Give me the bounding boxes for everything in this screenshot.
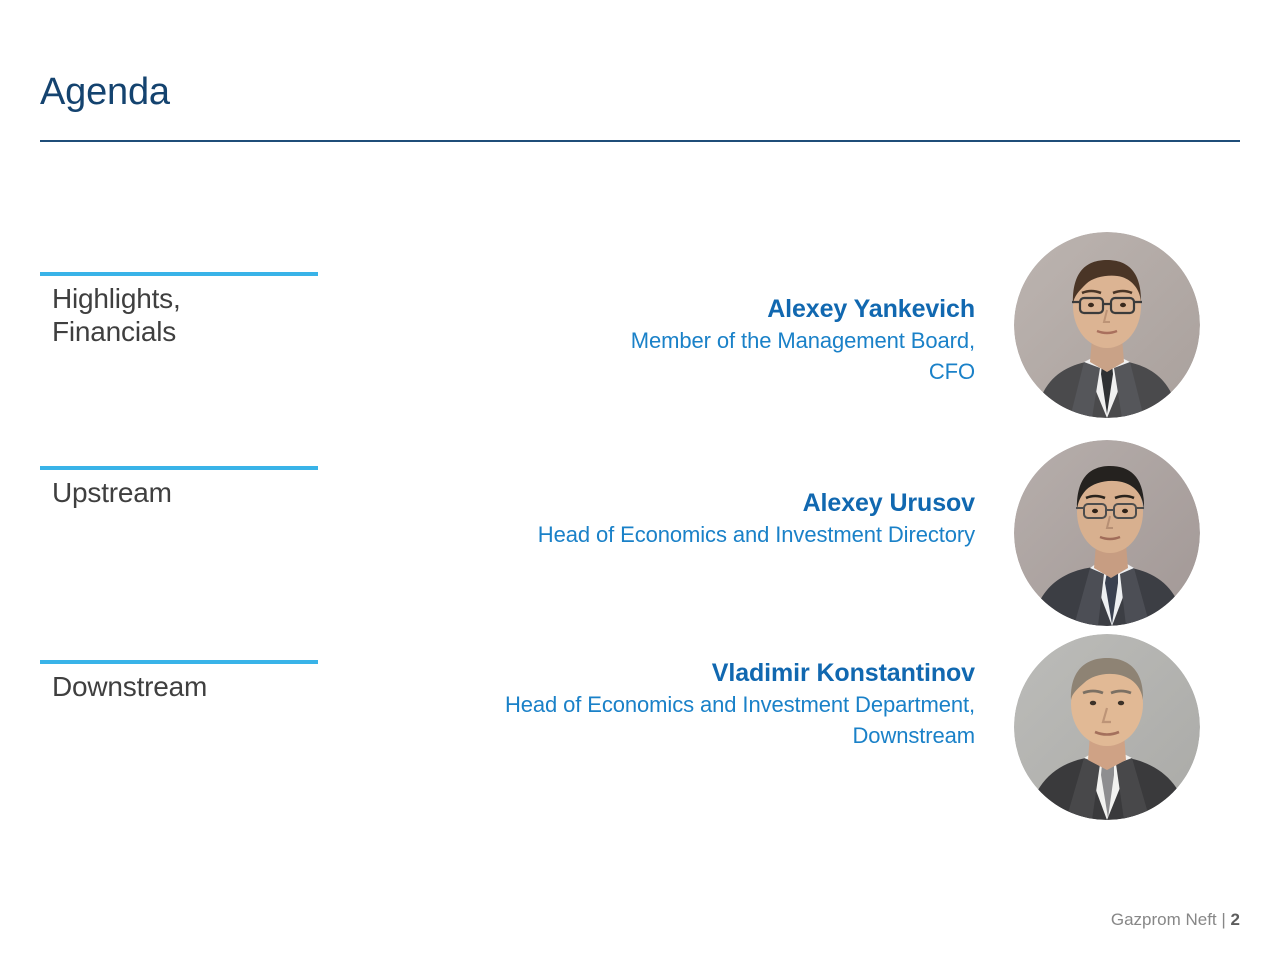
section-accent-line [40,272,318,276]
title-divider [40,140,1240,142]
person-block: Vladimir Konstantinov Head of Economics … [355,658,975,751]
footer-company: Gazprom Neft | [1111,910,1226,929]
person-block: Alexey Urusov Head of Economics and Inve… [355,488,975,550]
portrait-alexey-urusov-icon [1014,440,1200,626]
portrait-alexey-yankevich-icon [1014,232,1200,418]
sidebar-item-downstream[interactable]: Downstream [52,670,352,703]
page-title: Agenda [40,70,170,114]
avatar [1014,634,1200,820]
portrait-vladimir-konstantinov-icon [1014,634,1200,820]
person-title: Head of Economics and Investment Departm… [355,689,975,751]
avatar [1014,232,1200,418]
agenda-row[interactable]: Downstream Vladimir Konstantinov Head of… [0,650,1280,846]
sidebar-item-highlights-financials[interactable]: Highlights,Financials [52,282,352,348]
sidebar-item-upstream[interactable]: Upstream [52,476,352,509]
person-name: Vladimir Konstantinov [355,658,975,689]
slide-agenda: Agenda Highlights,Financials Alexey Yank… [0,0,1280,960]
person-block: Alexey Yankevich Member of the Managemen… [355,294,975,387]
person-name: Alexey Yankevich [355,294,975,325]
section-accent-line [40,466,318,470]
person-title: Member of the Management Board,CFO [355,325,975,387]
person-name: Alexey Urusov [355,488,975,519]
agenda-row[interactable]: Highlights,Financials Alexey Yankevich M… [0,262,1280,452]
person-title: Head of Economics and Investment Directo… [355,519,975,550]
page-number: 2 [1231,910,1240,929]
avatar [1014,440,1200,626]
section-accent-line [40,660,318,664]
footer: Gazprom Neft | 2 [1111,910,1240,930]
agenda-row[interactable]: Upstream Alexey Urusov Head of Economics… [0,456,1280,646]
